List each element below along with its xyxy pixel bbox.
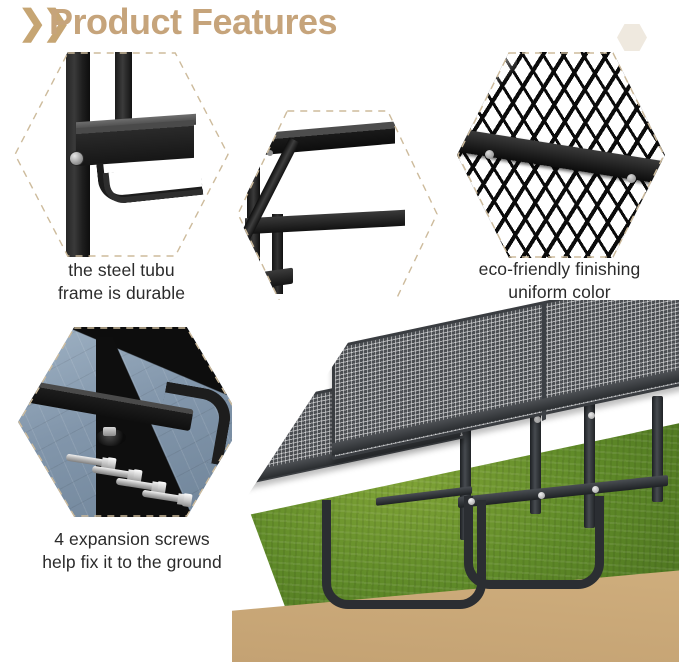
feature-card-bracing-bar — [237, 110, 438, 318]
feature-caption-eco-friendly-finish: eco-friendly finishing uniform color — [440, 258, 679, 304]
feature-card-expansion-screws — [18, 327, 243, 517]
frame-rivet — [592, 486, 599, 493]
frame-rivet — [588, 412, 595, 419]
page-header: ❯❯ Product Features — [0, 0, 679, 48]
infographic-canvas: ❯❯ Product Features the steel tubu frame… — [0, 0, 679, 662]
frame-rivet — [538, 492, 545, 499]
feature-caption-steel-tube-frame: the steel tubu frame is durable — [14, 259, 229, 305]
hero-product-photo — [232, 300, 679, 662]
bench-u-leg — [322, 500, 486, 609]
frame-rivet — [534, 416, 541, 423]
feature-card-steel-tube-frame — [14, 52, 229, 257]
table-u-leg — [464, 496, 604, 589]
hexagon-dashed-outline — [14, 52, 229, 257]
hexagon-dashed-outline — [18, 327, 243, 517]
hexagon-dashed-outline — [457, 52, 665, 258]
page-title: Product Features — [49, 0, 337, 44]
feature-caption-expansion-screws: 4 expansion screws help fix it to the gr… — [8, 528, 256, 574]
hexagon-dashed-outline — [237, 110, 438, 318]
frame-rivet — [468, 498, 475, 505]
feature-card-eco-friendly-finish — [457, 52, 665, 258]
